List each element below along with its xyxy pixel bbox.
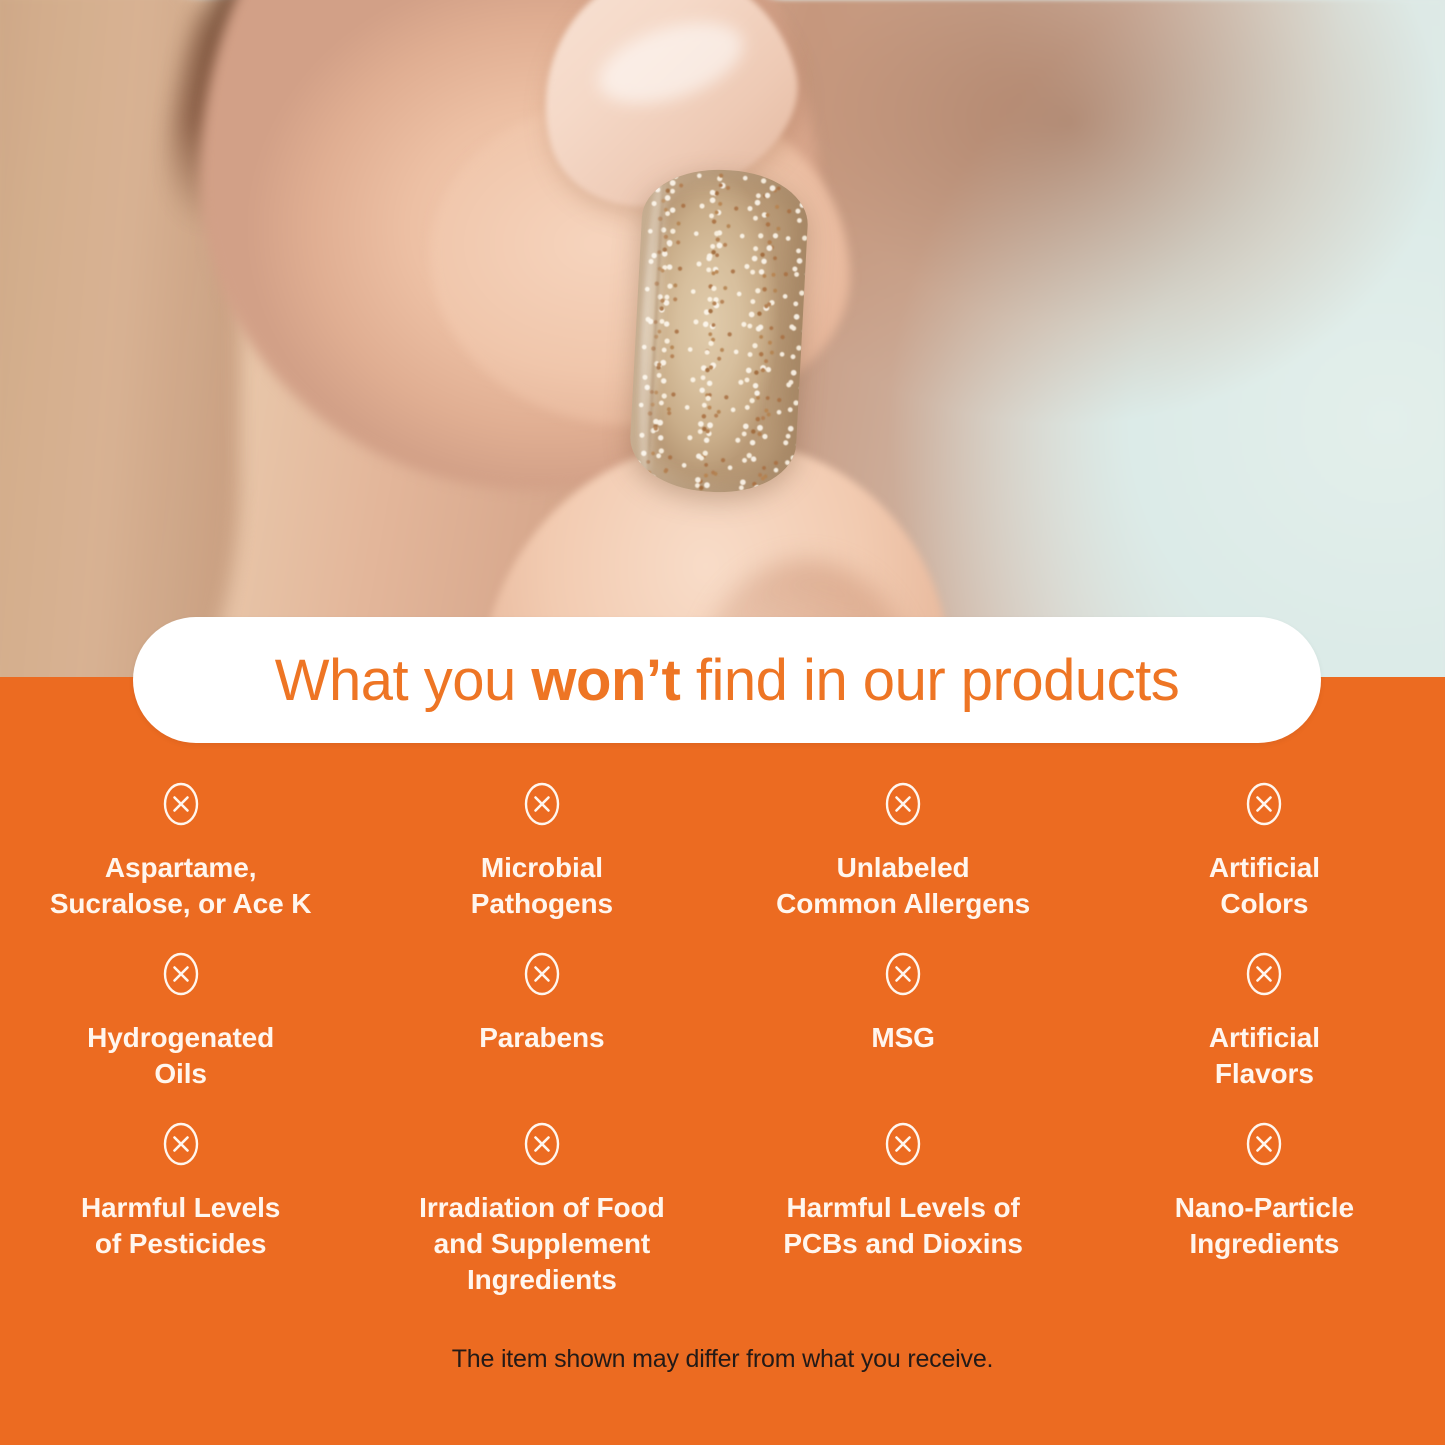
x-circle-icon — [159, 1122, 203, 1166]
product-claims-infographic: Aspartame,Sucralose, or Ace KMicrobialPa… — [0, 0, 1445, 1445]
product-photo — [0, 0, 1445, 680]
claim-item-line: Ingredients — [467, 1264, 617, 1295]
x-circle-icon — [881, 952, 925, 996]
claims-panel: Aspartame,Sucralose, or Ace KMicrobialPa… — [0, 677, 1445, 1445]
claim-item: UnlabeledCommon Allergens — [723, 782, 1084, 948]
page-title: What you won’t find in our products — [275, 647, 1179, 714]
claim-item-line: Flavors — [1215, 1058, 1314, 1089]
claim-item-label: Irradiation of Foodand SupplementIngredi… — [419, 1190, 664, 1297]
x-circle-icon — [1242, 952, 1286, 996]
claim-item: MicrobialPathogens — [361, 782, 722, 948]
headline-part-after: find in our products — [680, 648, 1179, 713]
claim-item-line: Common Allergens — [776, 888, 1030, 919]
claim-item: Irradiation of Foodand SupplementIngredi… — [361, 1122, 722, 1312]
claim-item: ArtificialFlavors — [1084, 952, 1445, 1118]
x-circle-icon — [159, 782, 203, 826]
claim-item-line: Aspartame, — [105, 852, 257, 883]
claim-item-label: ArtificialColors — [1209, 850, 1320, 922]
tablet-icon — [628, 166, 811, 496]
claim-item-line: Artificial — [1209, 852, 1320, 883]
claim-item-label: ArtificialFlavors — [1209, 1020, 1320, 1092]
claim-item-label: Parabens — [479, 1020, 604, 1056]
claim-item-line: Pathogens — [471, 888, 613, 919]
claim-item: MSG — [723, 952, 1084, 1118]
claim-item: Harmful Levelsof Pesticides — [0, 1122, 361, 1312]
x-circle-icon — [881, 782, 925, 826]
claim-item-line: Hydrogenated — [87, 1022, 274, 1053]
claim-item-line: Sucralose, or Ace K — [50, 888, 312, 919]
claim-item-line: Nano-Particle — [1175, 1192, 1354, 1223]
claim-item-line: PCBs and Dioxins — [783, 1228, 1023, 1259]
claim-item-line: Oils — [154, 1058, 207, 1089]
headline-emphasis: won’t — [531, 648, 680, 713]
claim-item-line: Harmful Levels — [81, 1192, 280, 1223]
claim-item: Parabens — [361, 952, 722, 1118]
claims-grid: Aspartame,Sucralose, or Ace KMicrobialPa… — [0, 782, 1445, 1312]
claim-item-line: Unlabeled — [837, 852, 970, 883]
x-circle-icon — [520, 1122, 564, 1166]
claim-item-label: MSG — [871, 1020, 934, 1056]
claim-item-label: UnlabeledCommon Allergens — [776, 850, 1030, 922]
claim-item: Harmful Levels ofPCBs and Dioxins — [723, 1122, 1084, 1312]
claim-item: Nano-ParticleIngredients — [1084, 1122, 1445, 1312]
claim-item-label: HydrogenatedOils — [87, 1020, 274, 1092]
x-circle-icon — [1242, 782, 1286, 826]
claim-item-label: Harmful Levelsof Pesticides — [81, 1190, 280, 1262]
x-circle-icon — [520, 952, 564, 996]
x-circle-icon — [1242, 1122, 1286, 1166]
claim-item-line: Harmful Levels of — [786, 1192, 1019, 1223]
claim-item-label: Aspartame,Sucralose, or Ace K — [50, 850, 312, 922]
claims-row: Harmful Levelsof PesticidesIrradiation o… — [0, 1122, 1445, 1312]
claim-item-line: Parabens — [479, 1022, 604, 1053]
claim-item-line: Artificial — [1209, 1022, 1320, 1053]
x-circle-icon — [159, 952, 203, 996]
claims-row: HydrogenatedOilsParabensMSGArtificialFla… — [0, 952, 1445, 1118]
claim-item: ArtificialColors — [1084, 782, 1445, 948]
claims-row: Aspartame,Sucralose, or Ace KMicrobialPa… — [0, 782, 1445, 948]
claim-item-line: of Pesticides — [95, 1228, 266, 1259]
headline-banner: What you won’t find in our products — [133, 617, 1321, 743]
claim-item-label: MicrobialPathogens — [471, 850, 613, 922]
claim-item: HydrogenatedOils — [0, 952, 361, 1118]
claim-item-line: Irradiation of Food — [419, 1192, 664, 1223]
claim-item-line: MSG — [871, 1022, 934, 1053]
claim-item: Aspartame,Sucralose, or Ace K — [0, 782, 361, 948]
x-circle-icon — [520, 782, 564, 826]
x-circle-icon — [881, 1122, 925, 1166]
claim-item-line: and Supplement — [434, 1228, 650, 1259]
tablet-body — [628, 166, 811, 496]
claim-item-line: Microbial — [481, 852, 603, 883]
claim-item-line: Colors — [1220, 888, 1308, 919]
claim-item-line: Ingredients — [1189, 1228, 1339, 1259]
disclaimer-text: The item shown may differ from what you … — [0, 1345, 1445, 1374]
headline-part-before: What you — [275, 648, 532, 713]
claim-item-label: Nano-ParticleIngredients — [1175, 1190, 1354, 1262]
claim-item-label: Harmful Levels ofPCBs and Dioxins — [783, 1190, 1023, 1262]
